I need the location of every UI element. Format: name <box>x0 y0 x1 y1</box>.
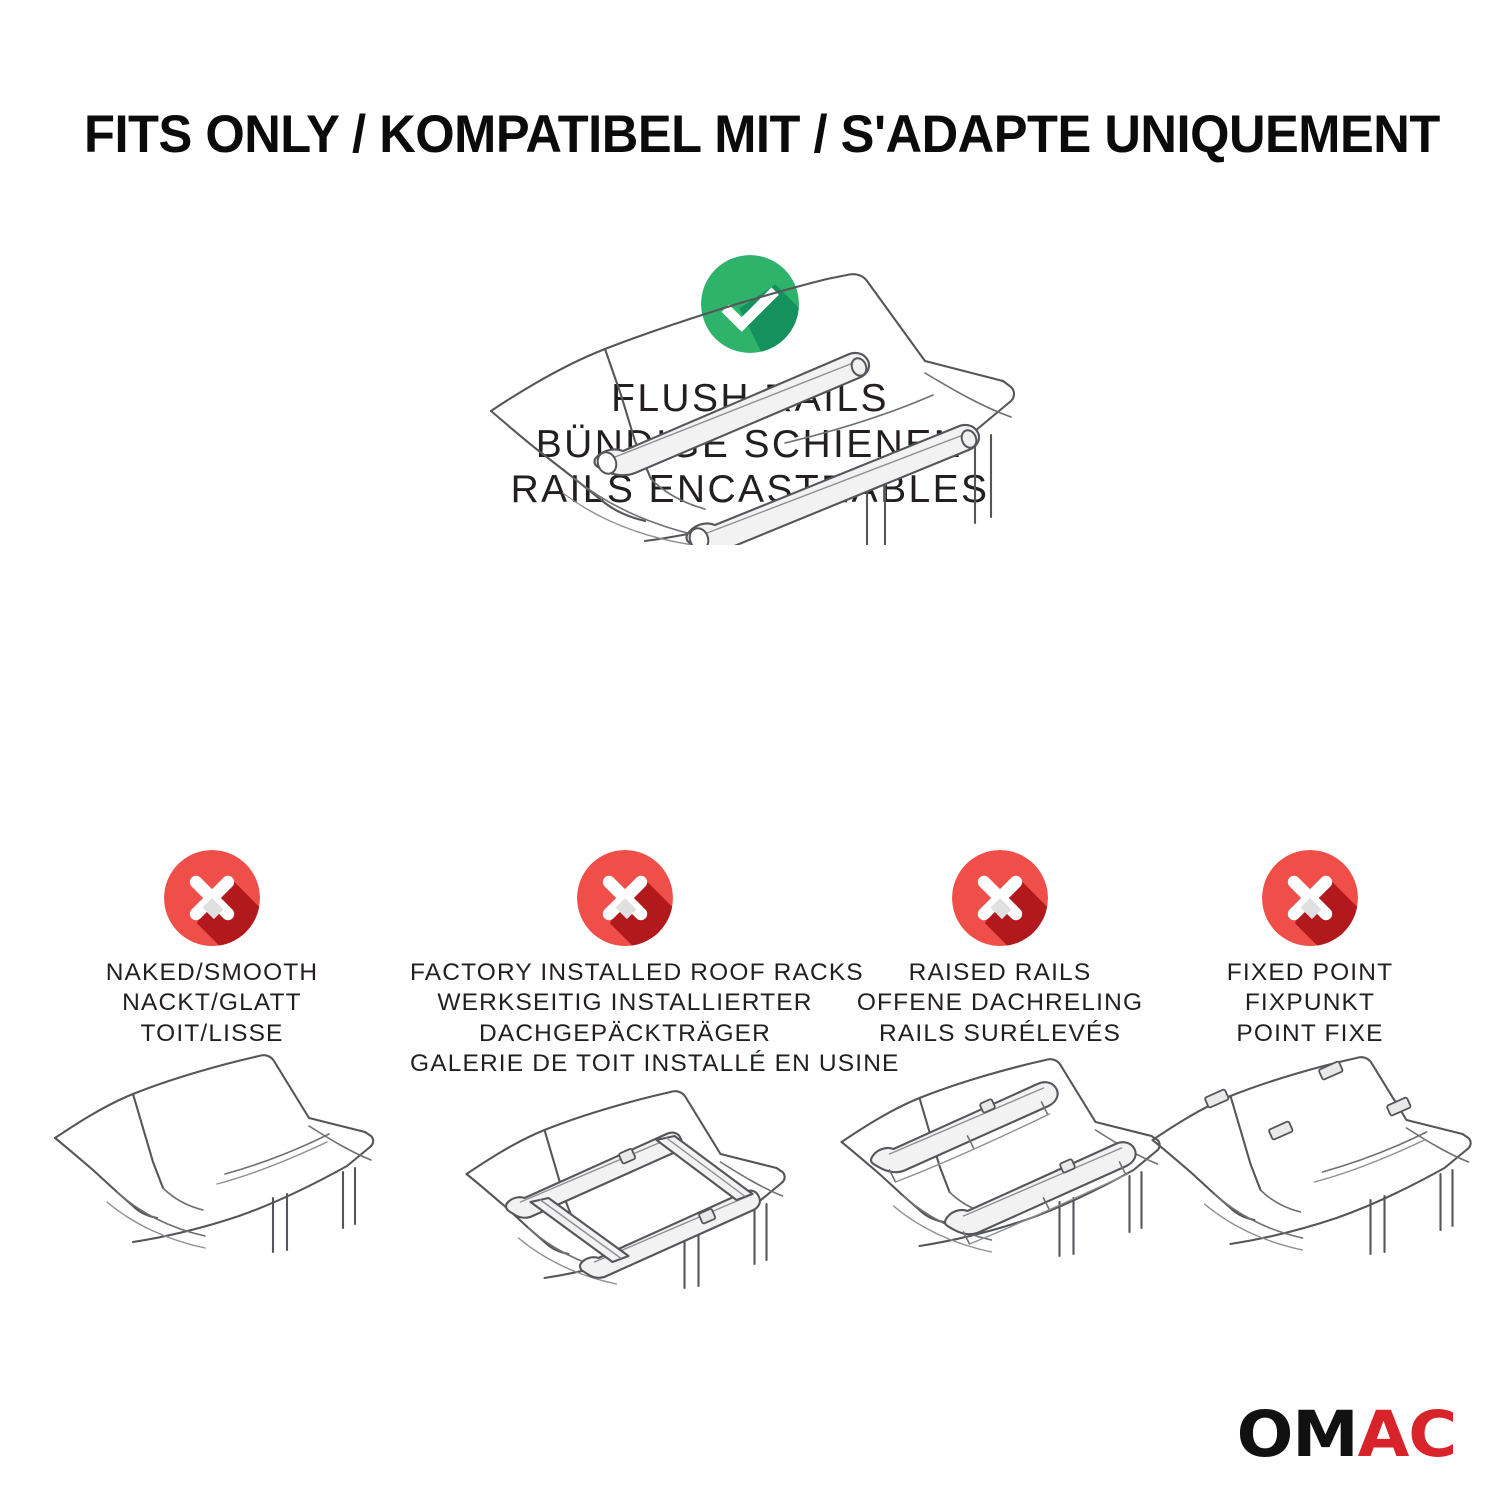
infographic-page: FITS ONLY / KOMPATIBEL MIT / S'ADAPTE UN… <box>0 0 1500 1500</box>
label-line-en: FACTORY INSTALLED ROOF RACKS <box>410 958 840 988</box>
label-line-de: NACKT/GLATT <box>42 988 382 1018</box>
incompatible-labels: FIXED POINT FIXPUNKT POINT FIXE <box>1180 958 1440 1049</box>
label-line-fr: RAILS SURÉLEVÉS <box>838 1019 1162 1049</box>
car-roof-factory-racks-illustration <box>453 1078 798 1313</box>
incompatible-item-factory-racks: FACTORY INSTALLED ROOF RACKS WERKSEITIG … <box>410 850 840 1080</box>
incompatible-labels: NAKED/SMOOTH NACKT/GLATT TOIT/LISSE <box>42 958 382 1049</box>
label-line-fr: TOIT/LISSE <box>42 1019 382 1049</box>
label-line-en: NAKED/SMOOTH <box>42 958 382 988</box>
label-line-fr: POINT FIXE <box>1180 1019 1440 1049</box>
omac-logo: OMAC <box>1236 1403 1456 1466</box>
logo-text-dark: OM <box>1236 1398 1357 1471</box>
car-roof-naked-smooth-illustration <box>47 1046 377 1281</box>
incompatible-labels: FACTORY INSTALLED ROOF RACKS WERKSEITIG … <box>410 958 840 1080</box>
label-line-de-2: DACHGEPÄCKTRÄGER <box>410 1019 840 1049</box>
car-roof-flush-rails-illustration <box>455 245 1055 545</box>
label-line-en: RAISED RAILS <box>838 958 1162 988</box>
incompatible-item-fixed-point: FIXED POINT FIXPUNKT POINT FIXE <box>1180 850 1440 1049</box>
label-line-fr: GALERIE DE TOIT INSTALLÉ EN USINE <box>410 1049 840 1079</box>
label-line-de-1: WERKSEITIG INSTALLIERTER <box>410 988 840 1018</box>
incompatible-section: NAKED/SMOOTH NACKT/GLATT TOIT/LISSE <box>0 850 1500 1490</box>
cross-circle-icon <box>577 850 673 946</box>
label-line-de: FIXPUNKT <box>1180 988 1440 1018</box>
label-line-en: FIXED POINT <box>1180 958 1440 988</box>
cross-circle-icon <box>952 850 1048 946</box>
incompatible-item-raised-rails: RAISED RAILS OFFENE DACHRELING RAILS SUR… <box>838 850 1162 1049</box>
incompatible-item-naked-smooth: NAKED/SMOOTH NACKT/GLATT TOIT/LISSE <box>42 850 382 1049</box>
car-roof-fixed-point-illustration <box>1143 1046 1478 1281</box>
page-title: FITS ONLY / KOMPATIBEL MIT / S'ADAPTE UN… <box>84 106 1364 164</box>
incompatible-labels: RAISED RAILS OFFENE DACHRELING RAILS SUR… <box>838 958 1162 1049</box>
logo-text-red: AC <box>1357 1398 1456 1471</box>
cross-circle-icon <box>1262 850 1358 946</box>
cross-circle-icon <box>164 850 260 946</box>
car-roof-raised-rails-illustration <box>828 1046 1173 1281</box>
label-line-de: OFFENE DACHRELING <box>838 988 1162 1018</box>
